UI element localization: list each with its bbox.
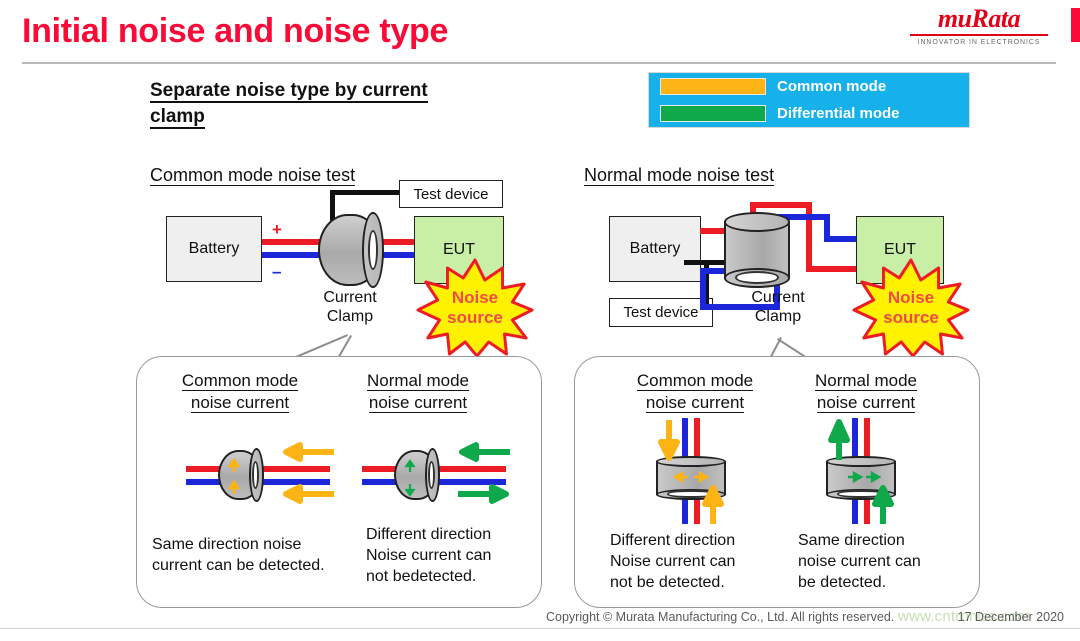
footer-divider [0,628,1080,629]
left-battery-box: Battery [166,216,262,282]
left-callout-normal-title-line1: Normal mode [367,371,469,391]
left-callout-normal-title: Normal mode noise current [338,370,498,414]
right-callout-common-text: Different direction Noise current can no… [610,530,790,593]
left-callout-normal-text-line1: Different direction [366,524,542,545]
legend-swatch-common-mode [660,78,766,95]
legend-label-common-mode: Common mode [777,78,886,95]
right-noise-line2: source [852,308,970,328]
footer-copyright: Copyright © Murata Manufacturing Co., Lt… [546,610,894,624]
left-minus-sign: – [272,263,281,280]
figure-arrow-up-green-lower [872,484,894,526]
logo-wordmark: muRata [904,6,1054,32]
right-test-device-box: Test device [609,298,713,327]
left-diagram-title-text: Common mode noise test [150,165,355,186]
left-current-clamp [318,214,382,286]
left-callout-common-figure [180,440,340,504]
right-diagram-title-text: Normal mode noise test [584,165,774,186]
left-clamp-label-line2: Clamp [300,307,400,326]
right-callout-common-figure [636,418,746,524]
header-divider [22,62,1056,64]
right-noise-source-burst: Noise source [852,258,970,358]
figure-clamp-inner-arrows-green [400,458,420,498]
legend-swatch-cell [649,78,777,95]
murata-logo: muRata INNOVATOR IN ELECTRONICS [904,6,1054,46]
figure-arrow-up-orange [702,484,724,526]
left-noise-source-text: Noise source [416,288,534,328]
right-callout-common-text-line1: Different direction [610,530,790,551]
left-test-device-label: Test device [413,186,488,203]
right-callout-normal-text-line2: noise current can [798,551,974,572]
corner-accent-tab [1071,8,1080,42]
right-noise-line1: Noise [852,288,970,308]
right-current-clamp [724,212,790,288]
right-test-device-label: Test device [623,304,698,321]
right-callout-normal-text-line1: Same direction [798,530,974,551]
right-callout-normal-figure [806,418,916,524]
right-noise-source-text: Noise source [852,288,970,328]
left-signal-lead-horizontal [330,190,402,195]
right-callout-normal-title: Normal mode noise current [786,370,946,414]
figure-arrow-down-orange [658,418,680,462]
right-wire-positive-seg3 [750,202,812,208]
right-callout-common-text-line2: Noise current can [610,551,790,572]
logo-tagline: INNOVATOR IN ELECTRONICS [904,39,1054,46]
page-title: Initial noise and noise type [22,12,448,51]
right-callout-common-text-line3: not be detected. [610,572,790,593]
right-callout-normal-text-line3: be detected. [798,572,974,593]
left-eut-label: EUT [443,241,475,259]
left-callout-normal-text: Different direction Noise current can no… [366,524,542,587]
left-callout-normal-figure [356,440,516,504]
right-clamp-label-line2: Clamp [728,307,828,326]
left-callout-normal-text-line3: not bedetected. [366,566,542,587]
figure-arrow-up-green [828,418,850,462]
left-callout-common-title-line2: noise current [191,393,289,413]
right-callout-normal-title-line1: Normal mode [815,371,917,391]
left-callout-normal-text-line2: Noise current can [366,545,542,566]
left-callout-common-title-line1: Common mode [182,371,298,391]
left-callout-common-title: Common mode noise current [160,370,320,414]
right-wire-positive-seg4 [806,202,812,272]
left-callout-common-text-line1: Same direction noise [152,534,348,555]
left-noise-line2: source [416,308,534,328]
footer-date: 17 December 2020 [958,610,1064,624]
left-test-device-box: Test device [399,180,503,208]
right-battery-label: Battery [630,240,681,258]
section-heading-line2: clamp [150,106,205,129]
right-battery-box: Battery [609,216,701,282]
left-callout-common-text-line2: current can be detected. [152,555,348,576]
right-clamp-label-line1: Current [728,288,828,307]
legend-row-differential: Differential mode [649,100,969,127]
legend-swatch-differential-mode [660,105,766,122]
section-heading: Separate noise type by current clamp [150,78,500,130]
legend-label-differential-mode: Differential mode [777,105,900,122]
right-callout-normal-title-line2: noise current [817,393,915,413]
legend-row-common: Common mode [649,73,969,100]
right-callout-common-title-line1: Common mode [637,371,753,391]
right-diagram-title: Normal mode noise test [584,165,774,186]
mode-legend: Common mode Differential mode [648,72,970,128]
left-clamp-label-line1: Current [300,288,400,307]
left-callout-normal-title-line2: noise current [369,393,467,413]
legend-swatch-cell [649,105,777,122]
figure-clamp-inner-arrows-orange [224,458,244,498]
figure-direction-arrows-orange [276,442,340,504]
right-eut-label: EUT [884,241,916,259]
right-callout-common-title-line2: noise current [646,393,744,413]
figure-direction-arrows-green [452,442,516,504]
left-noise-line1: Noise [416,288,534,308]
left-diagram-title: Common mode noise test [150,165,355,186]
left-clamp-label: Current Clamp [300,288,400,326]
right-callout-common-title: Common mode noise current [610,370,780,414]
left-plus-sign: + [272,221,282,238]
section-heading-line1: Separate noise type by current [150,80,428,103]
left-battery-label: Battery [189,240,240,258]
logo-underline [910,34,1048,36]
right-clamp-label: Current Clamp [728,288,828,326]
left-callout-common-text: Same direction noise current can be dete… [152,534,348,576]
right-callout-normal-text: Same direction noise current can be dete… [798,530,974,593]
left-noise-source-burst: Noise source [416,258,534,358]
